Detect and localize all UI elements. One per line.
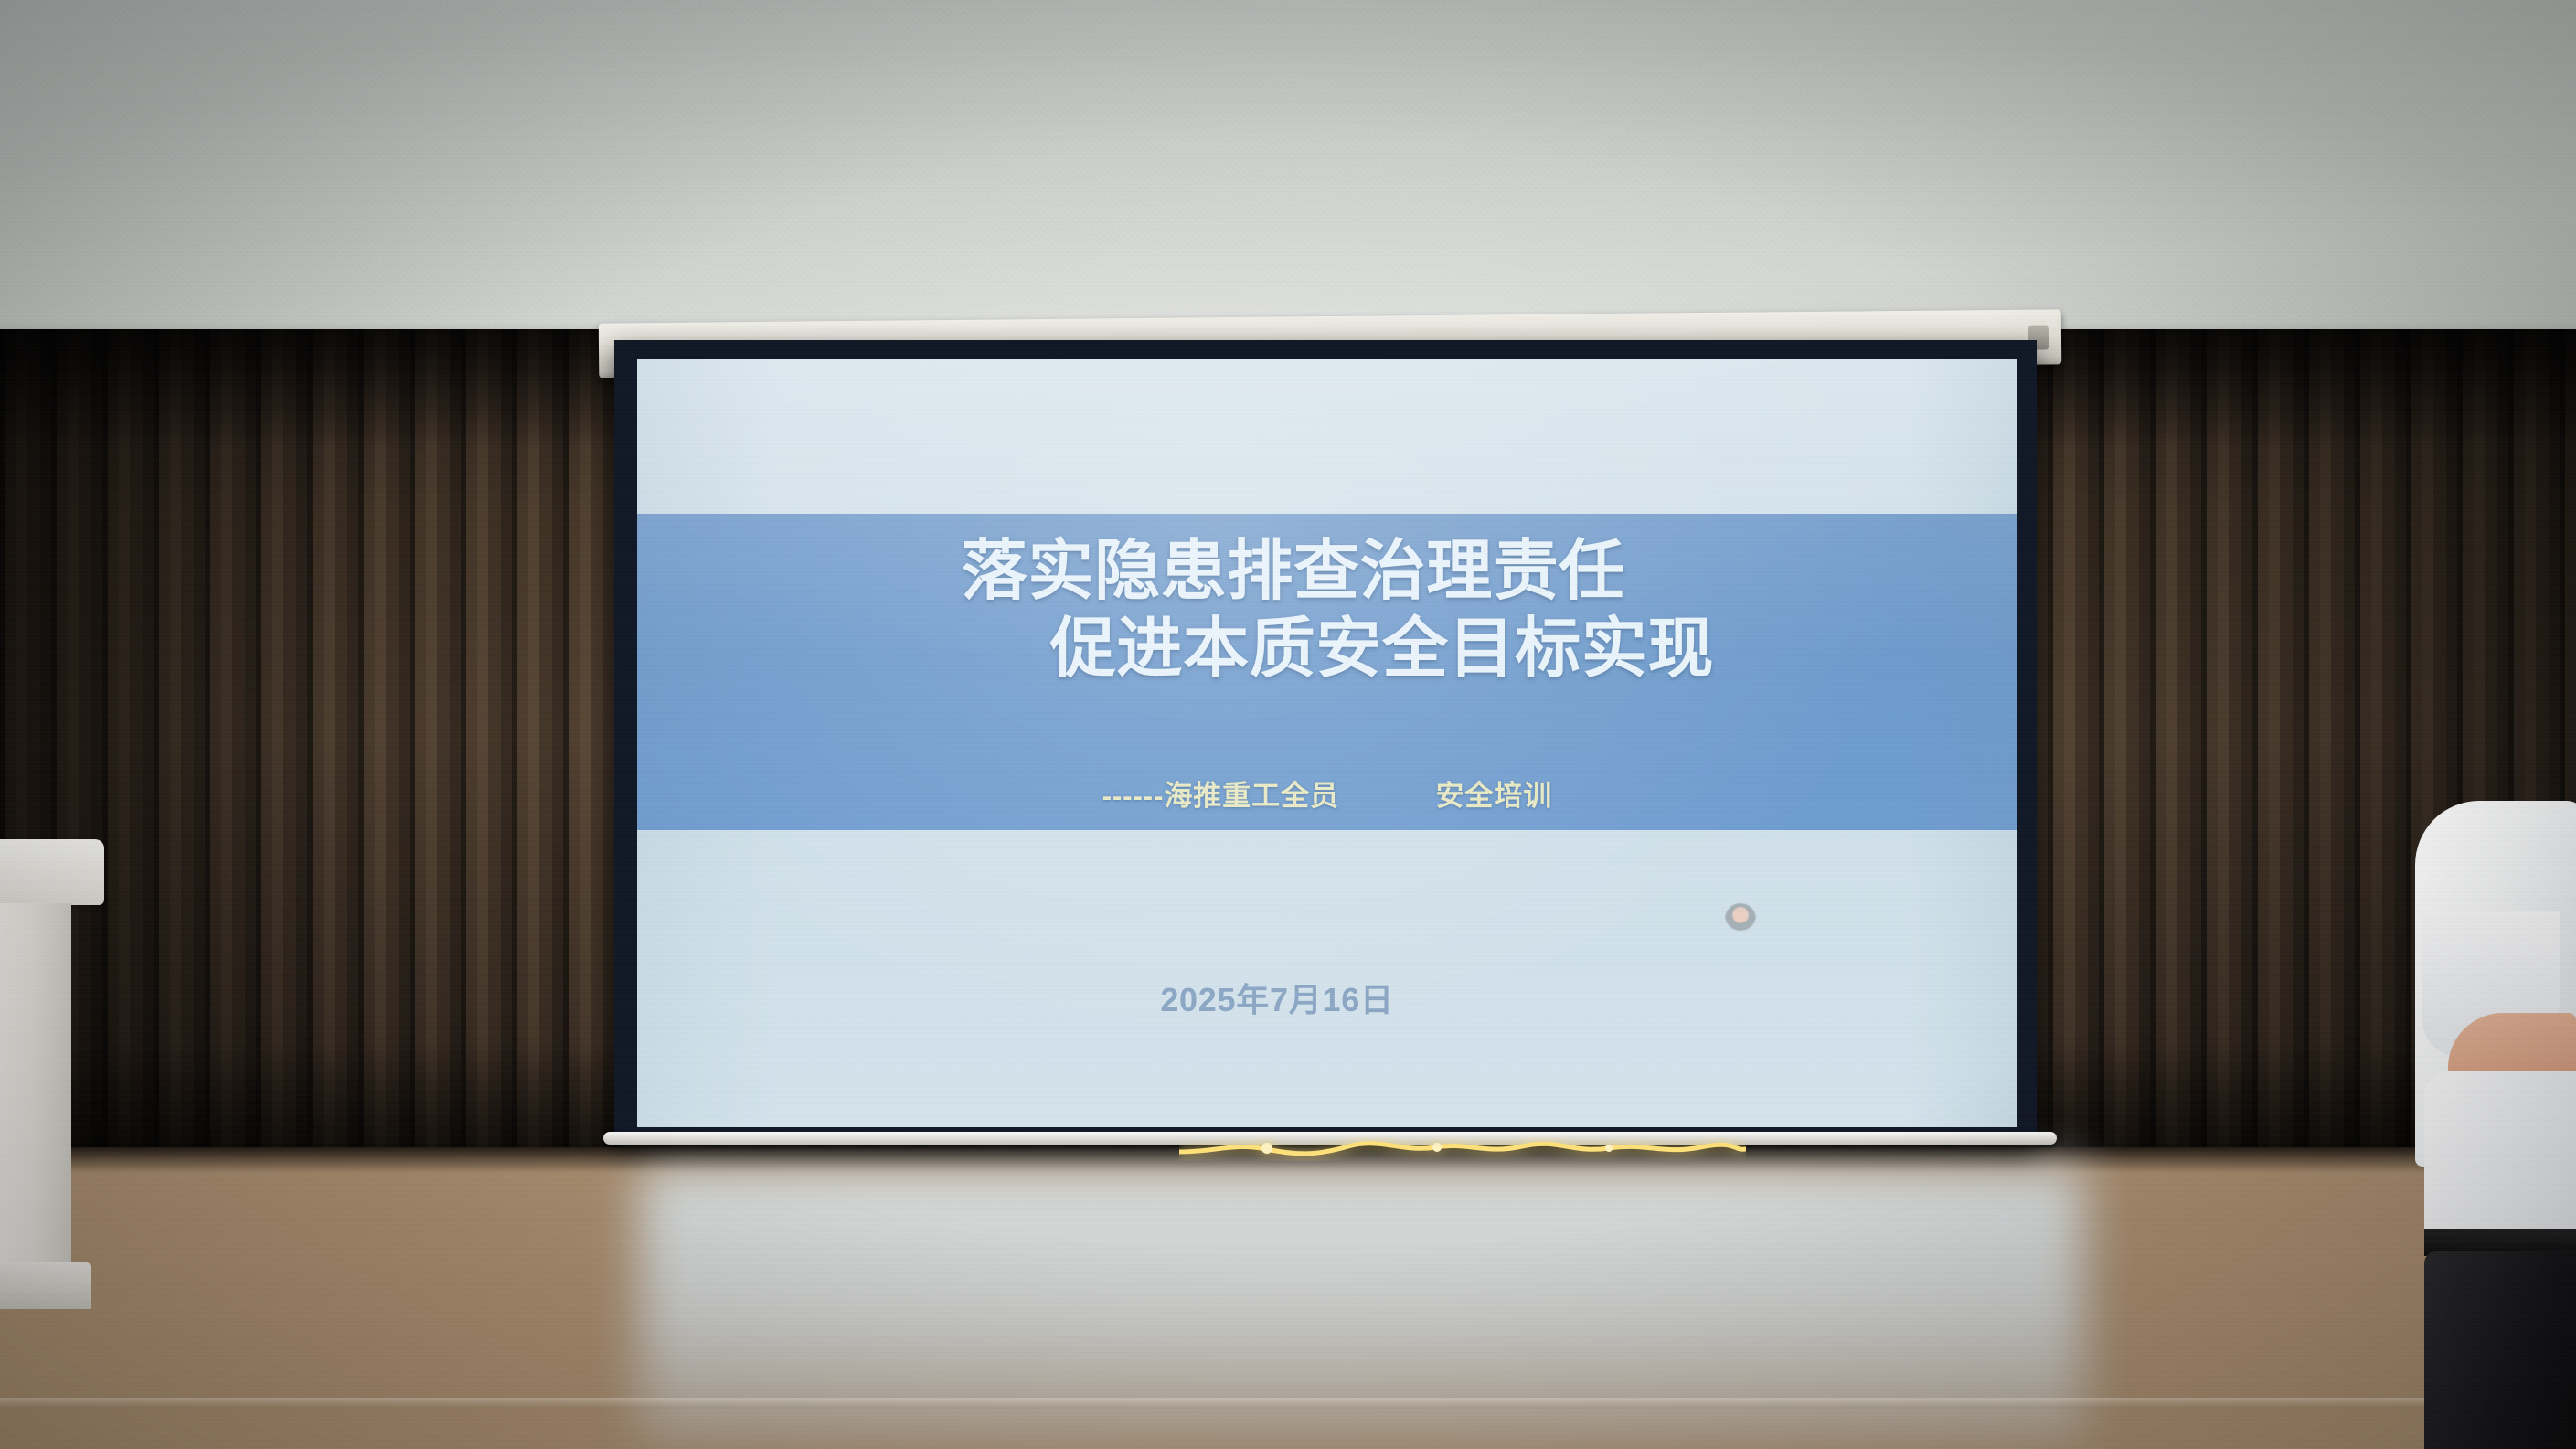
slide-date: 2025年7月16日 — [637, 974, 2017, 1021]
slide-subtitle-right: 安全培训 — [1435, 772, 1552, 814]
slide-subtitle-row: ------海推重工全员 安全培训 — [637, 772, 2017, 814]
lectern-top — [0, 839, 104, 905]
projected-slide: 落实隐患排查治理责任 促进本质安全目标实现 ------海推重工全员 安全培训 … — [637, 359, 2017, 1127]
standing-person — [2411, 801, 2576, 1449]
screen-weight-bar — [603, 1132, 2057, 1145]
slide-title-block: 落实隐患排查治理责任 促进本质安全目标实现 — [637, 533, 2017, 688]
lectern-base — [0, 1262, 91, 1309]
slide-subtitle-left: ------海推重工全员 — [1102, 772, 1339, 814]
wood-floor — [0, 1147, 2576, 1449]
lectern-column — [0, 903, 71, 1269]
person-shirt-lower — [2424, 1071, 2576, 1245]
room-photo-scene: 落实隐患排查治理责任 促进本质安全目标实现 ------海推重工全员 安全培训 … — [0, 0, 2576, 1449]
floor-highlight-strip — [0, 1398, 2576, 1409]
lectern — [0, 839, 104, 1315]
person-trousers — [2424, 1251, 2576, 1449]
slide-avatar-icon — [1725, 903, 1756, 934]
slide-title-line-1: 落实隐患排查治理责任 — [637, 533, 2017, 611]
slide-title-line-2: 促进本质安全目标实现 — [637, 611, 2017, 688]
